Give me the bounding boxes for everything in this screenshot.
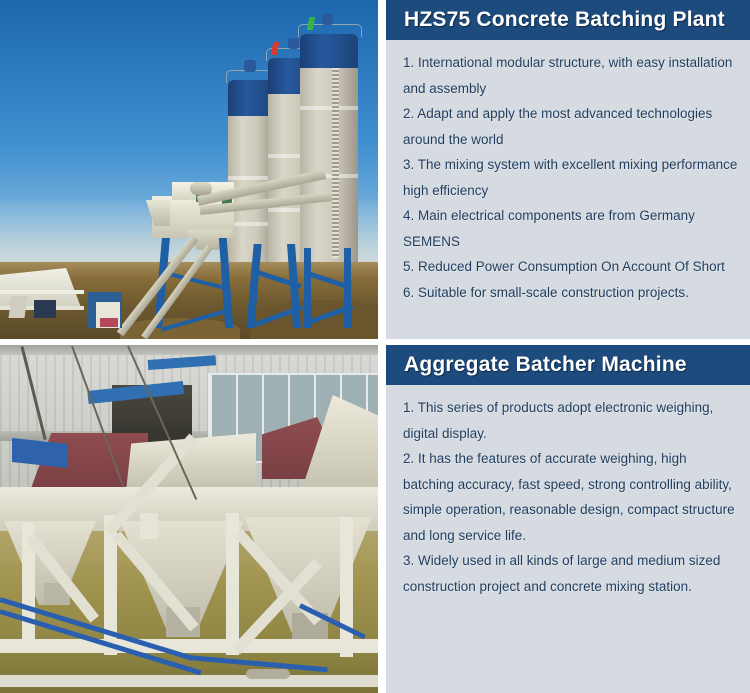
wall-beam: [0, 345, 378, 355]
vertical-post: [340, 517, 353, 657]
batcher-feature-list: 1. This series of products adopt electro…: [386, 385, 750, 603]
list-item: 2. Adapt and apply the most advanced tec…: [403, 101, 738, 152]
list-item: 2. It has the features of accurate weigh…: [403, 446, 738, 548]
list-item: 1. International modular structure, with…: [403, 50, 738, 101]
conveyor-head: [190, 182, 212, 195]
batcher-panel-title: Aggregate Batcher Machine: [386, 345, 750, 385]
air-cylinder: [246, 669, 290, 679]
silo-hatch: [322, 14, 333, 25]
silo-ladder: [332, 68, 339, 258]
parked-vehicle: [34, 300, 56, 318]
list-item: 6. Suitable for small-scale construction…: [403, 280, 738, 306]
cabin-logo: [100, 318, 118, 327]
plant-text-panel: HZS75 Concrete Batching Plant 1. Interna…: [386, 0, 750, 339]
plant-panel-title: HZS75 Concrete Batching Plant: [386, 0, 750, 40]
list-item: 1. This series of products adopt electro…: [403, 395, 738, 446]
concrete-batching-plant-photo: [0, 0, 378, 339]
cement-silo-front: [300, 34, 358, 265]
list-item: 3. The mixing system with excellent mixi…: [403, 152, 738, 203]
support-leg: [304, 248, 311, 328]
shed-rail: [0, 290, 84, 294]
list-item: 5. Reduced Power Consumption On Account …: [403, 254, 738, 280]
list-item: 3. Widely used in all kinds of large and…: [403, 548, 738, 599]
plant-feature-list: 1. International modular structure, with…: [386, 40, 750, 309]
list-item: 4. Main electrical components are from G…: [403, 203, 738, 254]
silo-hatch: [244, 60, 256, 72]
shed-panel: [8, 296, 27, 318]
batcher-text-panel: Aggregate Batcher Machine 1. This series…: [386, 345, 750, 693]
product-spec-sheet: HZS75 Concrete Batching Plant 1. Interna…: [0, 0, 750, 693]
base-frame-rail: [0, 675, 378, 687]
silo-hatch: [288, 38, 299, 49]
aggregate-batcher-machine-photo: [0, 345, 378, 693]
base-frame-rail: [0, 639, 378, 653]
inspection-port: [140, 513, 158, 539]
